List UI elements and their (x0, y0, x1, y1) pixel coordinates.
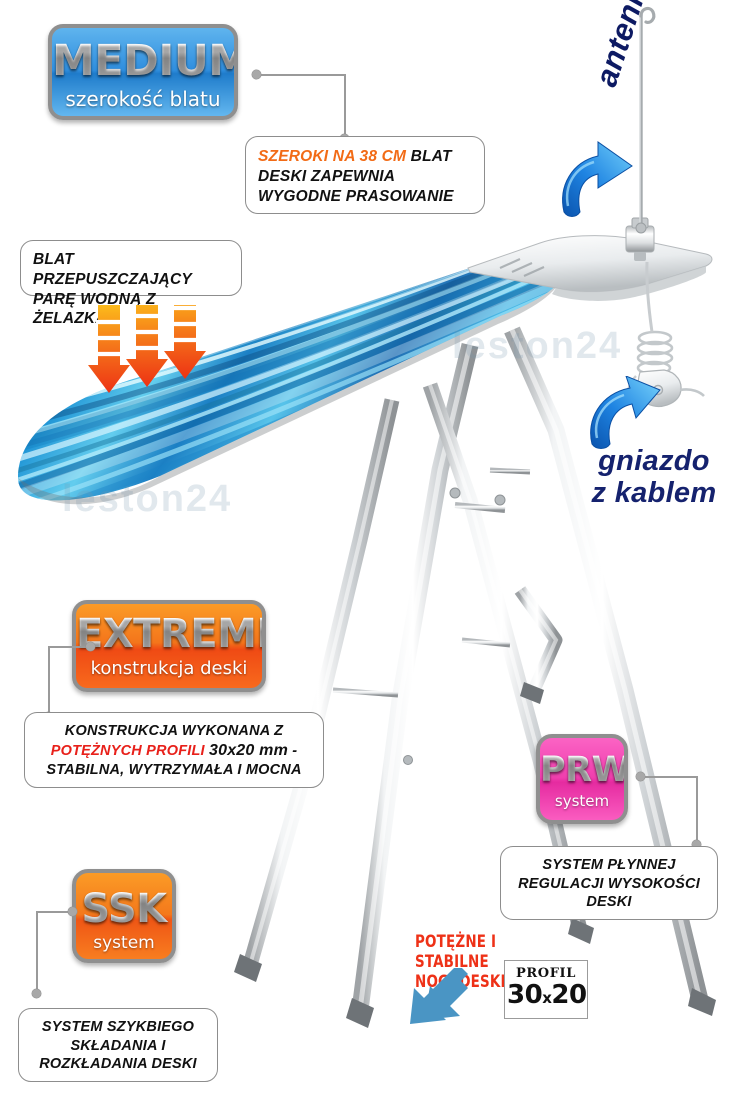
badge-ssk-title: SSK (76, 873, 172, 932)
steam-down-arrow (88, 305, 130, 393)
label-gniazdo-line1: gniazdo (578, 445, 730, 477)
badge-medium-title: MEDIUM (52, 28, 234, 86)
badge-medium-subtitle: szerokość blatu (52, 86, 234, 112)
curved-up-right-arrow-icon (556, 140, 640, 220)
label-gniazdo-line2: z kablem (578, 477, 730, 509)
callout-construction: KONSTRUKCJA WYKONANA Z POTĘŻNYCH PROFILI… (24, 712, 324, 788)
badge-extreme-title: EXTREME (76, 604, 262, 657)
steam-down-arrow (164, 305, 206, 379)
callout-construction-line1: KONSTRUKCJA WYKONANA Z (35, 722, 313, 741)
curved-up-left-arrow-icon (586, 376, 666, 452)
callout-prw: SYSTEM PŁYNNEJ REGULACJI WYSOKOŚCI DESKI (500, 846, 718, 920)
profil-separator: x (542, 989, 551, 1007)
connector-ssk (28, 905, 78, 1005)
profil-caption: PROFIL (507, 966, 585, 981)
callout-ssk-line3: ROZKŁADANIA DESKI (29, 1055, 207, 1074)
callout-steam-line1: BLAT PRZEPUSZCZAJĄCY (33, 250, 229, 290)
infographic-canvas: leston24 leston24 MEDIUM szerokość blatu… (0, 0, 730, 1100)
badge-ssk[interactable]: SSK system (72, 869, 176, 963)
badge-prw[interactable]: PRW system (536, 734, 628, 824)
badge-prw-title: PRW (540, 738, 624, 791)
callout-board-width: SZEROKI NA 38 CM BLAT DESKI ZAPEWNIA WYG… (245, 136, 485, 214)
badge-medium[interactable]: MEDIUM szerokość blatu (48, 24, 238, 120)
badge-ssk-subtitle: system (76, 932, 172, 954)
callout-construction-dimension: 30x20 mm (209, 742, 288, 759)
connector-prw (636, 770, 706, 854)
profil-spec-box: PROFIL 30x20 (505, 961, 587, 1018)
callout-ssk-line2: SKŁADANIA I (29, 1037, 207, 1056)
badge-prw-subtitle: system (540, 791, 624, 811)
callout-ssk: SYSTEM SZYKBIEGO SKŁADANIA I ROZKŁADANIA… (18, 1008, 218, 1082)
connector-medium (252, 68, 348, 146)
callout-ssk-line1: SYSTEM SZYKBIEGO (29, 1018, 207, 1037)
callout-prw-line1: SYSTEM PŁYNNEJ (511, 856, 707, 875)
callout-construction-line3: STABILNA, WYTRZYMAŁA I MOCNA (35, 761, 313, 780)
callout-width-highlight: SZEROKI NA 38 CM (258, 148, 406, 165)
callout-steam-permeable: BLAT PRZEPUSZCZAJĄCY PARĘ WODNĄ Z ŻELAZK… (20, 240, 242, 296)
callout-prw-line3: DESKI (511, 893, 707, 912)
label-gniazdo-z-kablem: gniazdo z kablem (578, 445, 730, 510)
steam-down-arrow-group (86, 305, 206, 400)
steam-down-arrow (126, 305, 168, 387)
badge-extreme-subtitle: konstrukcja deski (76, 657, 262, 681)
badge-extreme[interactable]: EXTREME konstrukcja deski (72, 600, 266, 692)
diagonal-down-left-arrow-icon (408, 968, 474, 1034)
callout-construction-highlight: POTĘŻNYCH PROFILI (51, 743, 205, 759)
profil-width: 30 (507, 980, 542, 1010)
callout-prw-line2: REGULACJI WYSOKOŚCI (511, 875, 707, 894)
callout-construction-tail: - (288, 743, 297, 759)
profil-height: 20 (551, 980, 586, 1010)
